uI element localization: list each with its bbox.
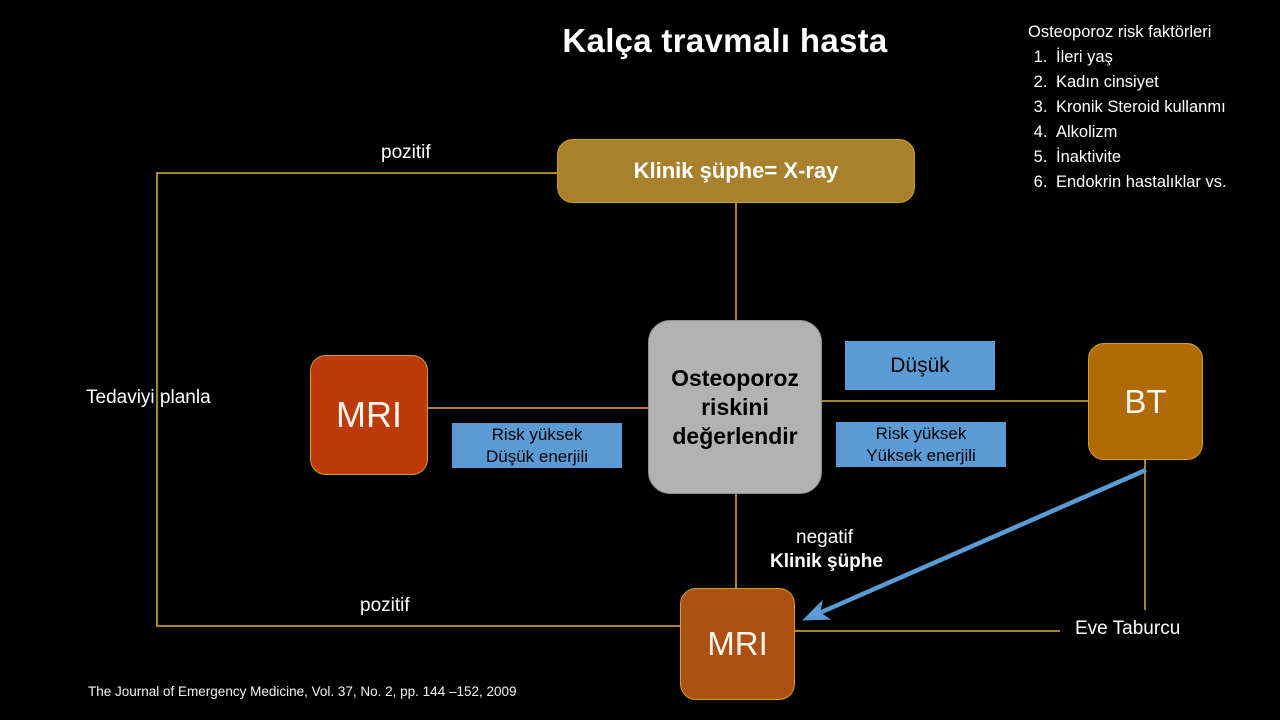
list-item: Kronik Steroid kullanmı [1052,95,1280,120]
node-label-line3: değerlendir [672,422,797,451]
label-text-line2: Yüksek enerjili [866,445,976,467]
list-item: Kadın cinsiyet [1052,70,1280,95]
page-title: Kalça travmalı hasta [440,22,1010,60]
node-label: BT [1124,383,1166,421]
annotation-eve-taburcu: Eve Taburcu [1075,618,1180,640]
list-item: İnaktivite [1052,145,1280,170]
node-label: MRI [336,394,402,436]
connector-bt-to-discharge [1144,460,1146,610]
risk-factors-heading: Osteoporoz risk faktörleri [1028,20,1280,45]
annotation-klinik-supe: Klinik şüphe [770,551,883,573]
annotation-tedaviyi-planla: Tedaviyi planla [86,387,211,409]
connector-bottom-mri-to-discharge [795,630,1060,632]
node-clinical-suspicion-xray[interactable]: Klinik şüphe= X-ray [557,139,915,203]
list-item: Endokrin hastalıklar vs. [1052,170,1280,195]
node-mri-bottom[interactable]: MRI [680,588,795,700]
connector-assess-to-mri-left [428,407,648,409]
label-text-line1: Risk yüksek [492,424,583,446]
annotation-pozitif-bottom: pozitif [360,595,410,617]
connector-xray-to-left [156,172,558,174]
connector-assess-to-bottom-mri [735,493,737,589]
list-item: Alkolizm [1052,120,1280,145]
annotation-negatif: negatif [796,527,853,549]
node-mri-left[interactable]: MRI [310,355,428,475]
label-low-risk: Düşük [845,341,995,390]
label-text-line1: Risk yüksek [876,423,967,445]
source-citation: The Journal of Emergency Medicine, Vol. … [88,684,517,699]
slide-canvas: Kalça travmalı hasta Osteoporoz risk fak… [0,0,1280,720]
node-label-line1: Osteoporoz [671,364,799,393]
label-text: Düşük [890,355,950,377]
node-assess-osteoporosis-risk[interactable]: Osteoporoz riskini değerlendir [648,320,822,494]
label-high-risk-high-energy: Risk yüksek Yüksek enerjili [836,422,1006,467]
connector-assess-to-bt [822,400,1088,402]
label-text-line2: Düşük enerjili [486,446,588,468]
list-item: İleri yaş [1052,45,1280,70]
osteoporosis-risk-factors-list: Osteoporoz risk faktörleri İleri yaş Kad… [1028,20,1280,195]
connector-left-to-bottom-mri [156,625,682,627]
node-label: MRI [707,625,768,663]
connector-xray-to-assess [735,203,737,321]
annotation-pozitif-top: pozitif [381,142,431,164]
label-high-risk-low-energy: Risk yüksek Düşük enerjili [452,423,622,468]
node-bt[interactable]: BT [1088,343,1203,460]
risk-factors-items: İleri yaş Kadın cinsiyet Kronik Steroid … [1028,45,1280,195]
node-label: Klinik şüphe= X-ray [634,158,839,184]
node-label-line2: riskini [701,393,769,422]
